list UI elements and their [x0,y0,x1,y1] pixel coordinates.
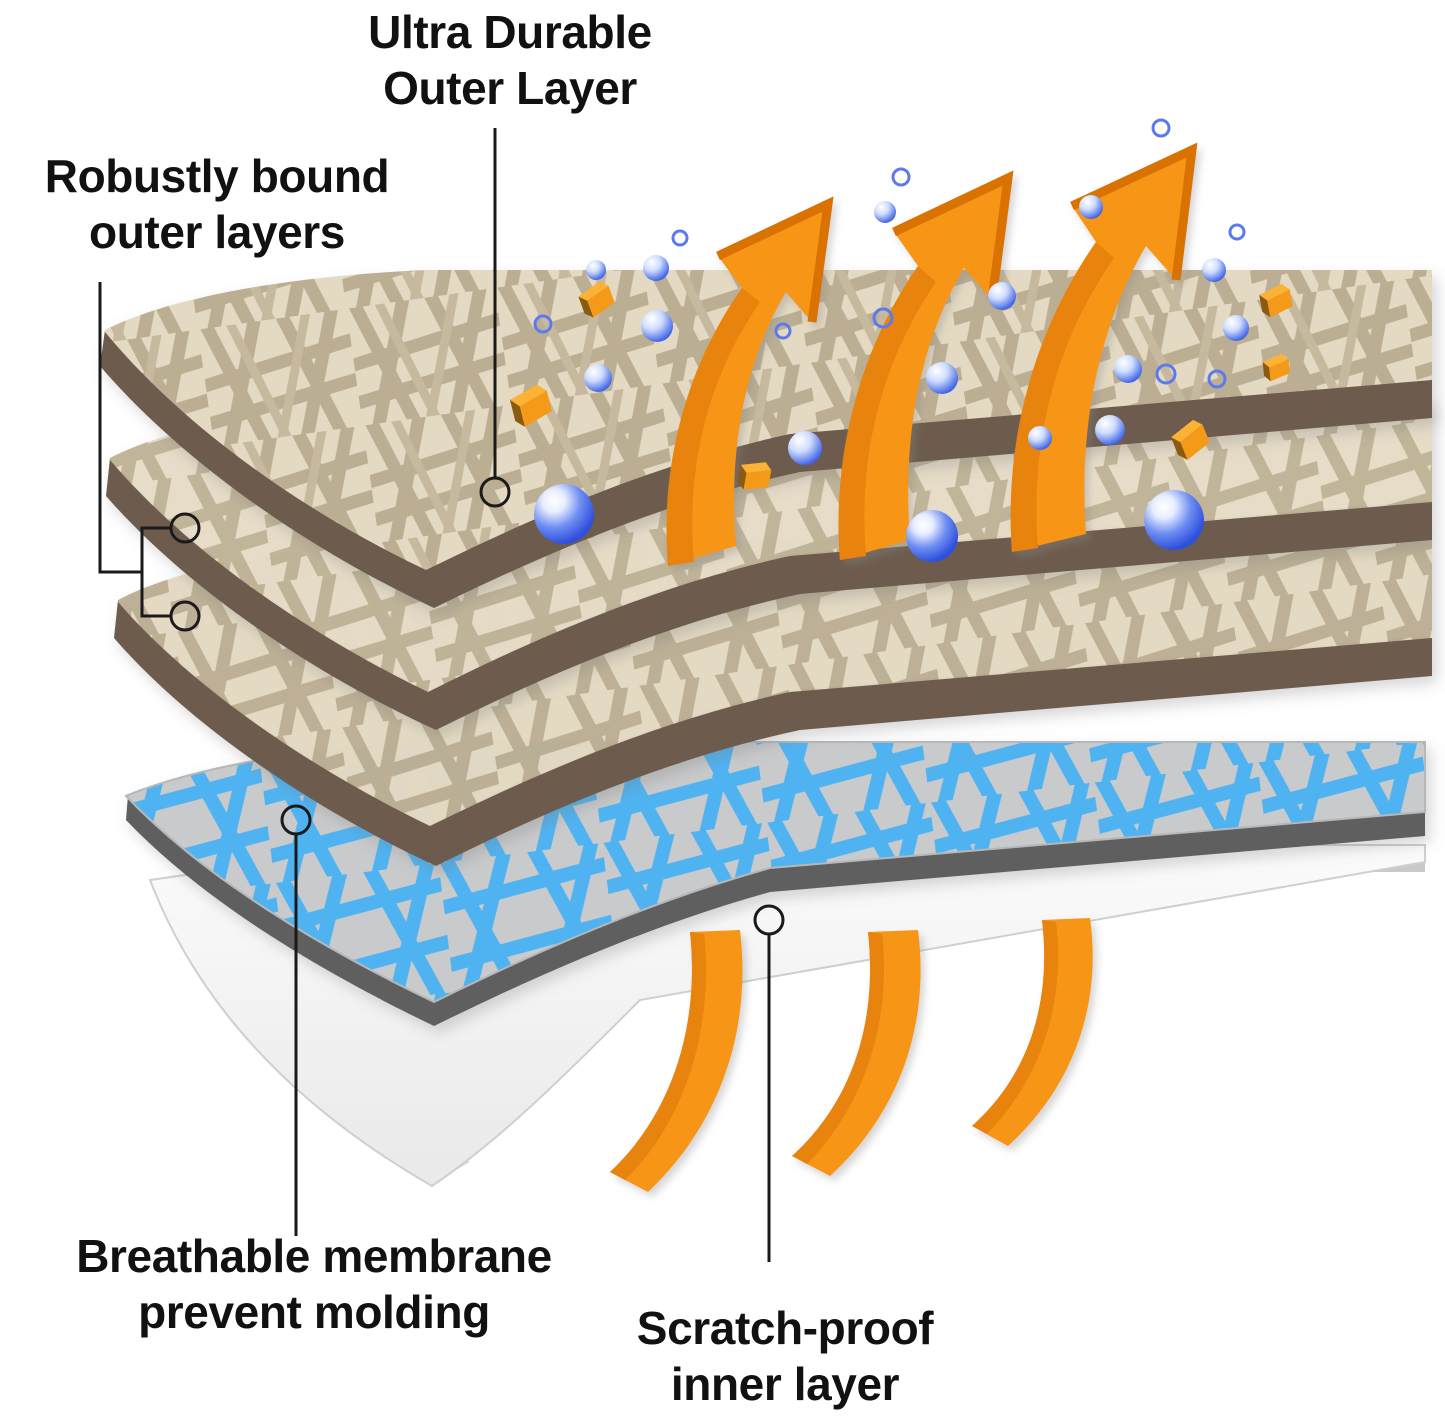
label-robustly-bound-outer-layers: Robustly bound outer layers [2,148,432,260]
diagram-canvas: Ultra Durable Outer Layer Robustly bound… [0,0,1445,1421]
label-scratch-proof-inner-layer: Scratch-proof inner layer [585,1300,985,1412]
label-ultra-durable-outer-layer: Ultra Durable Outer Layer [320,4,700,116]
label-breathable-membrane: Breathable membrane prevent molding [4,1228,624,1340]
arrow-down-3 [972,918,1093,1146]
